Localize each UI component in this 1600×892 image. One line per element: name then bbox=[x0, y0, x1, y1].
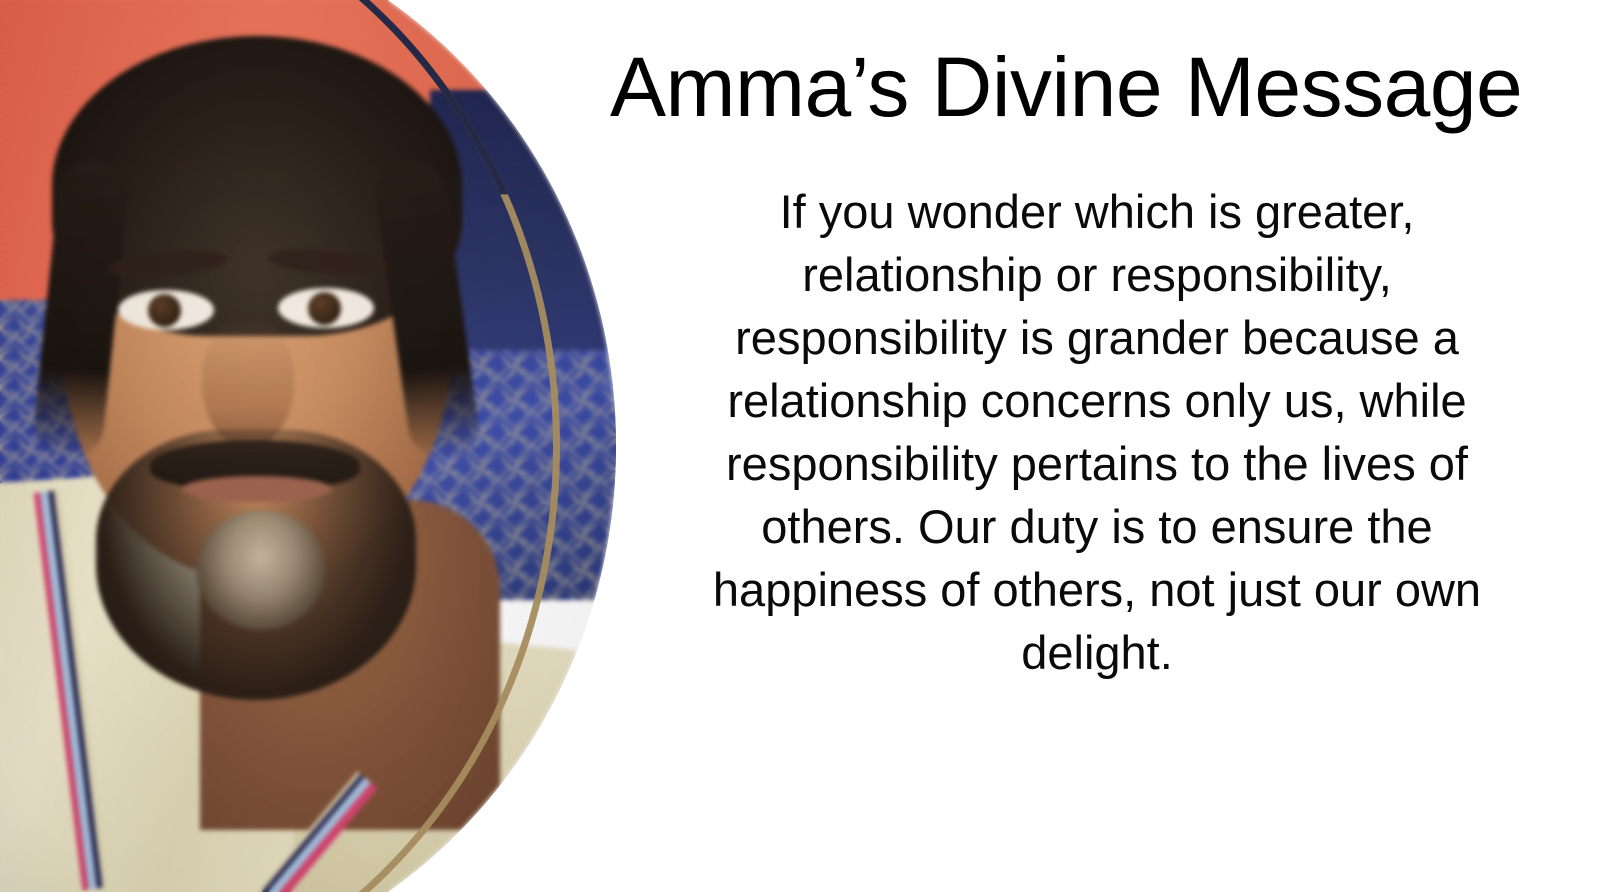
message-body: If you wonder which is greater, relation… bbox=[662, 180, 1532, 684]
page-title: Amma’s Divine Message bbox=[610, 44, 1500, 131]
portrait-photo-region bbox=[0, 0, 640, 892]
slide: Amma’s Divine Message If you wonder whic… bbox=[0, 0, 1600, 892]
text-column: Amma’s Divine Message If you wonder whic… bbox=[610, 0, 1600, 892]
